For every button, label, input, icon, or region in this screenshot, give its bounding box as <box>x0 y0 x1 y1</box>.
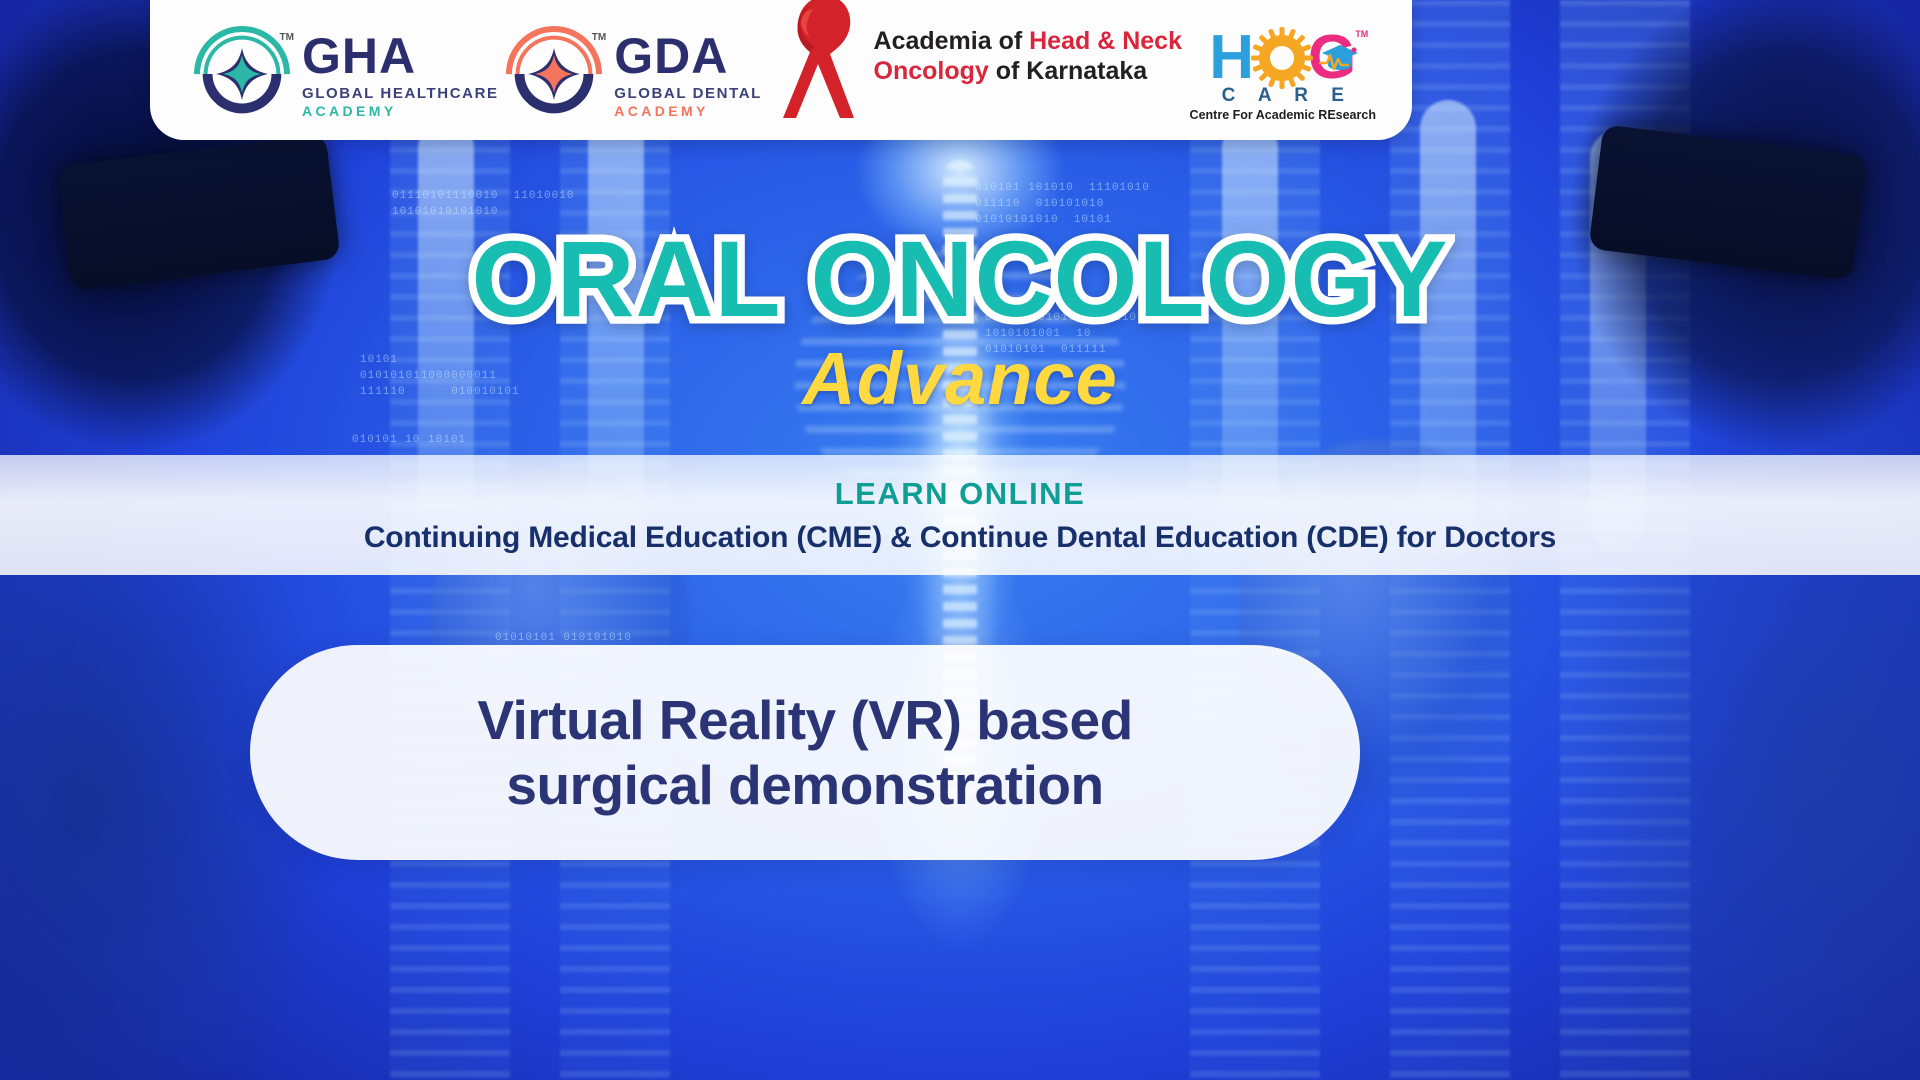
ahno-line2: Oncology of Karnataka <box>874 56 1182 87</box>
gha-emblem-icon: TM <box>194 26 290 122</box>
promo-banner: 01110101110010 11010010 10101010101010 1… <box>0 0 1920 1080</box>
four-point-star-icon <box>526 46 582 102</box>
band-description: Continuing Medical Education (CME) & Con… <box>364 521 1556 555</box>
sponsor-logo-bar: TM GHA GLOBAL HEALTHCARE ACADEMY TM GDA <box>150 0 1412 140</box>
red-ribbon-head-icon <box>770 0 866 122</box>
binary-overlay-1: 01110101110010 11010010 10101010101010 <box>392 188 574 220</box>
hcg-sunburst-c-icon <box>1251 27 1313 89</box>
hcg-tagline: Centre For Academic REsearch <box>1190 108 1376 122</box>
gha-trademark: TM <box>280 32 294 43</box>
hcg-letter-h: H <box>1209 29 1254 86</box>
gda-line1: GLOBAL DENTAL <box>614 86 762 101</box>
hcg-wordmark: H <box>1209 27 1356 89</box>
four-point-star-icon <box>214 46 270 102</box>
gda-trademark: TM <box>592 32 606 43</box>
gda-abbr: GDA <box>614 31 762 81</box>
vr-card-line2: surgical demonstration <box>506 753 1103 818</box>
page-subtitle: Advance <box>0 340 1920 418</box>
vr-demo-card: Virtual Reality (VR) based surgical demo… <box>250 645 1360 860</box>
logo-ahno[interactable]: Academia of Head & Neck Oncology of Karn… <box>770 0 1182 122</box>
vr-card-line1: Virtual Reality (VR) based <box>477 688 1132 753</box>
gha-line1: GLOBAL HEALTHCARE <box>302 86 499 101</box>
binary-overlay-3: 010101 10 10101 <box>352 432 466 448</box>
gha-line2: ACADEMY <box>302 104 499 118</box>
page-title: ORAL ONCOLOGY <box>0 222 1920 336</box>
gda-emblem-icon: TM <box>506 26 602 122</box>
headline-block: ORAL ONCOLOGY Advance <box>0 222 1920 418</box>
logo-hcg[interactable]: H <box>1190 27 1376 122</box>
graduation-cap-heartbeat-icon <box>1318 41 1362 73</box>
band-eyebrow: LEARN ONLINE <box>835 476 1086 512</box>
learn-online-band: LEARN ONLINE Continuing Medical Educatio… <box>0 455 1920 575</box>
logo-gda[interactable]: TM GDA GLOBAL DENTAL ACADEMY <box>506 26 762 122</box>
gha-abbr: GHA <box>302 31 499 81</box>
logo-gha[interactable]: TM GHA GLOBAL HEALTHCARE ACADEMY <box>194 26 499 122</box>
ahno-line1: Academia of Head & Neck <box>874 26 1182 57</box>
binary-overlay-6: 01010101 010101010 <box>495 630 632 646</box>
gda-line2: ACADEMY <box>614 104 762 118</box>
hcg-trademark: TM <box>1355 29 1368 39</box>
